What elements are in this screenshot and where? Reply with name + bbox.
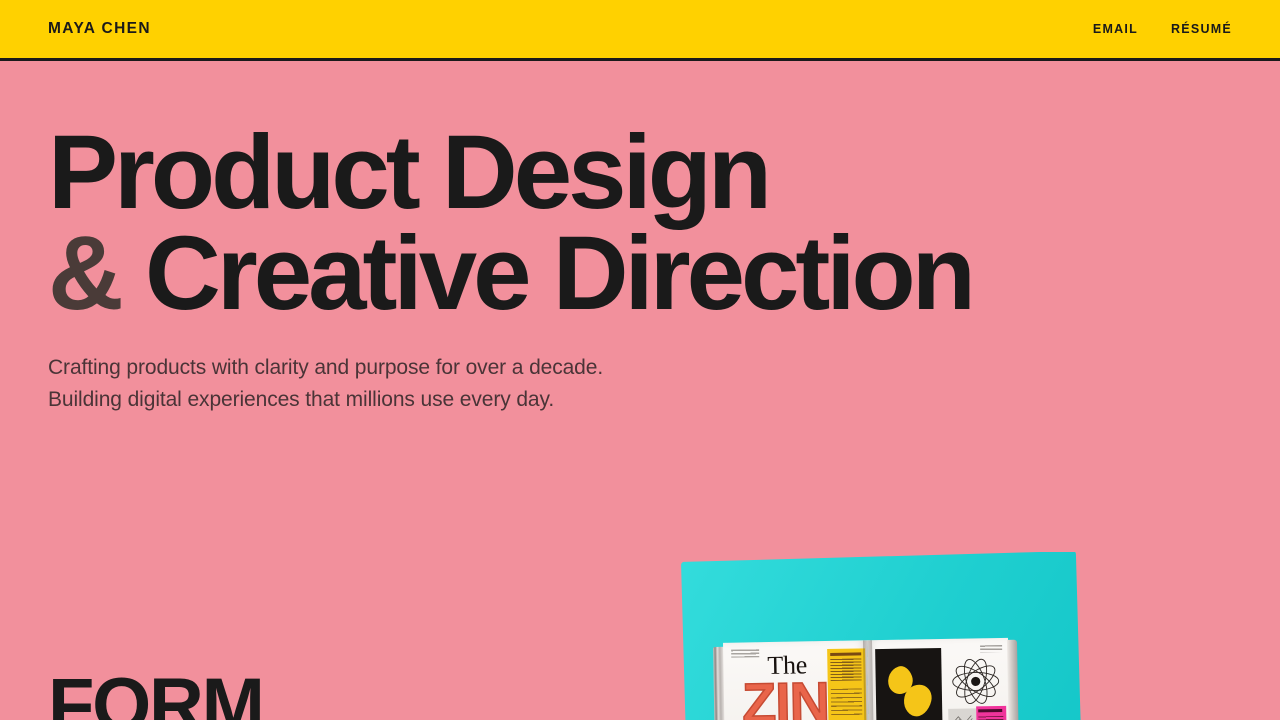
- magazine-left-page: The ZIN: [723, 640, 869, 720]
- primary-nav: EMAIL RÉSUMÉ: [1093, 22, 1232, 36]
- sticker-heading-rule: [978, 709, 1002, 712]
- headline-ampersand: &: [48, 215, 120, 332]
- page-root: MAYA CHEN EMAIL RÉSUMÉ Product Design & …: [0, 0, 1280, 720]
- callout-body-lines-1: [830, 658, 861, 681]
- callout-body-lines-2: [831, 688, 862, 717]
- nav-link-email[interactable]: EMAIL: [1093, 22, 1138, 36]
- magazine-right-edge: [1007, 640, 1019, 720]
- magazine-black-panel: [875, 648, 942, 720]
- subtitle-line-1: Crafting products with clarity and purpo…: [48, 356, 603, 379]
- right-page-folio: [980, 645, 1002, 652]
- atom-diagram-icon: [949, 657, 1002, 706]
- sketch-scribble-icon: [950, 713, 974, 720]
- magazine-yellow-callout: [827, 648, 867, 720]
- magazine-title-zin: ZIN: [742, 674, 830, 720]
- nav-link-resume[interactable]: RÉSUMÉ: [1171, 22, 1232, 36]
- page-title: Product Design & Creative Direction: [48, 123, 972, 325]
- open-magazine: The ZIN: [713, 638, 1020, 720]
- sticker-body-lines: [978, 716, 1003, 720]
- headline-line-1: Product Design: [48, 114, 768, 231]
- callout-heading-rule: [830, 652, 861, 656]
- magazine-gray-inset: [948, 708, 976, 720]
- site-header: MAYA CHEN EMAIL RÉSUMÉ: [0, 0, 1280, 61]
- magazine-right-page: [867, 638, 1010, 720]
- magazine-pink-sticker: [976, 706, 1006, 720]
- magazine-photo: The ZIN: [655, 552, 1095, 720]
- headline-line-2: Creative Direction: [120, 215, 972, 332]
- subtitle-line-2: Building digital experiences that millio…: [48, 388, 554, 411]
- left-page-running-head: [731, 649, 759, 657]
- section-heading-form: FORM: [48, 668, 263, 720]
- hero-subtitle: Crafting products with clarity and purpo…: [48, 352, 603, 416]
- brand-wordmark[interactable]: MAYA CHEN: [48, 20, 151, 38]
